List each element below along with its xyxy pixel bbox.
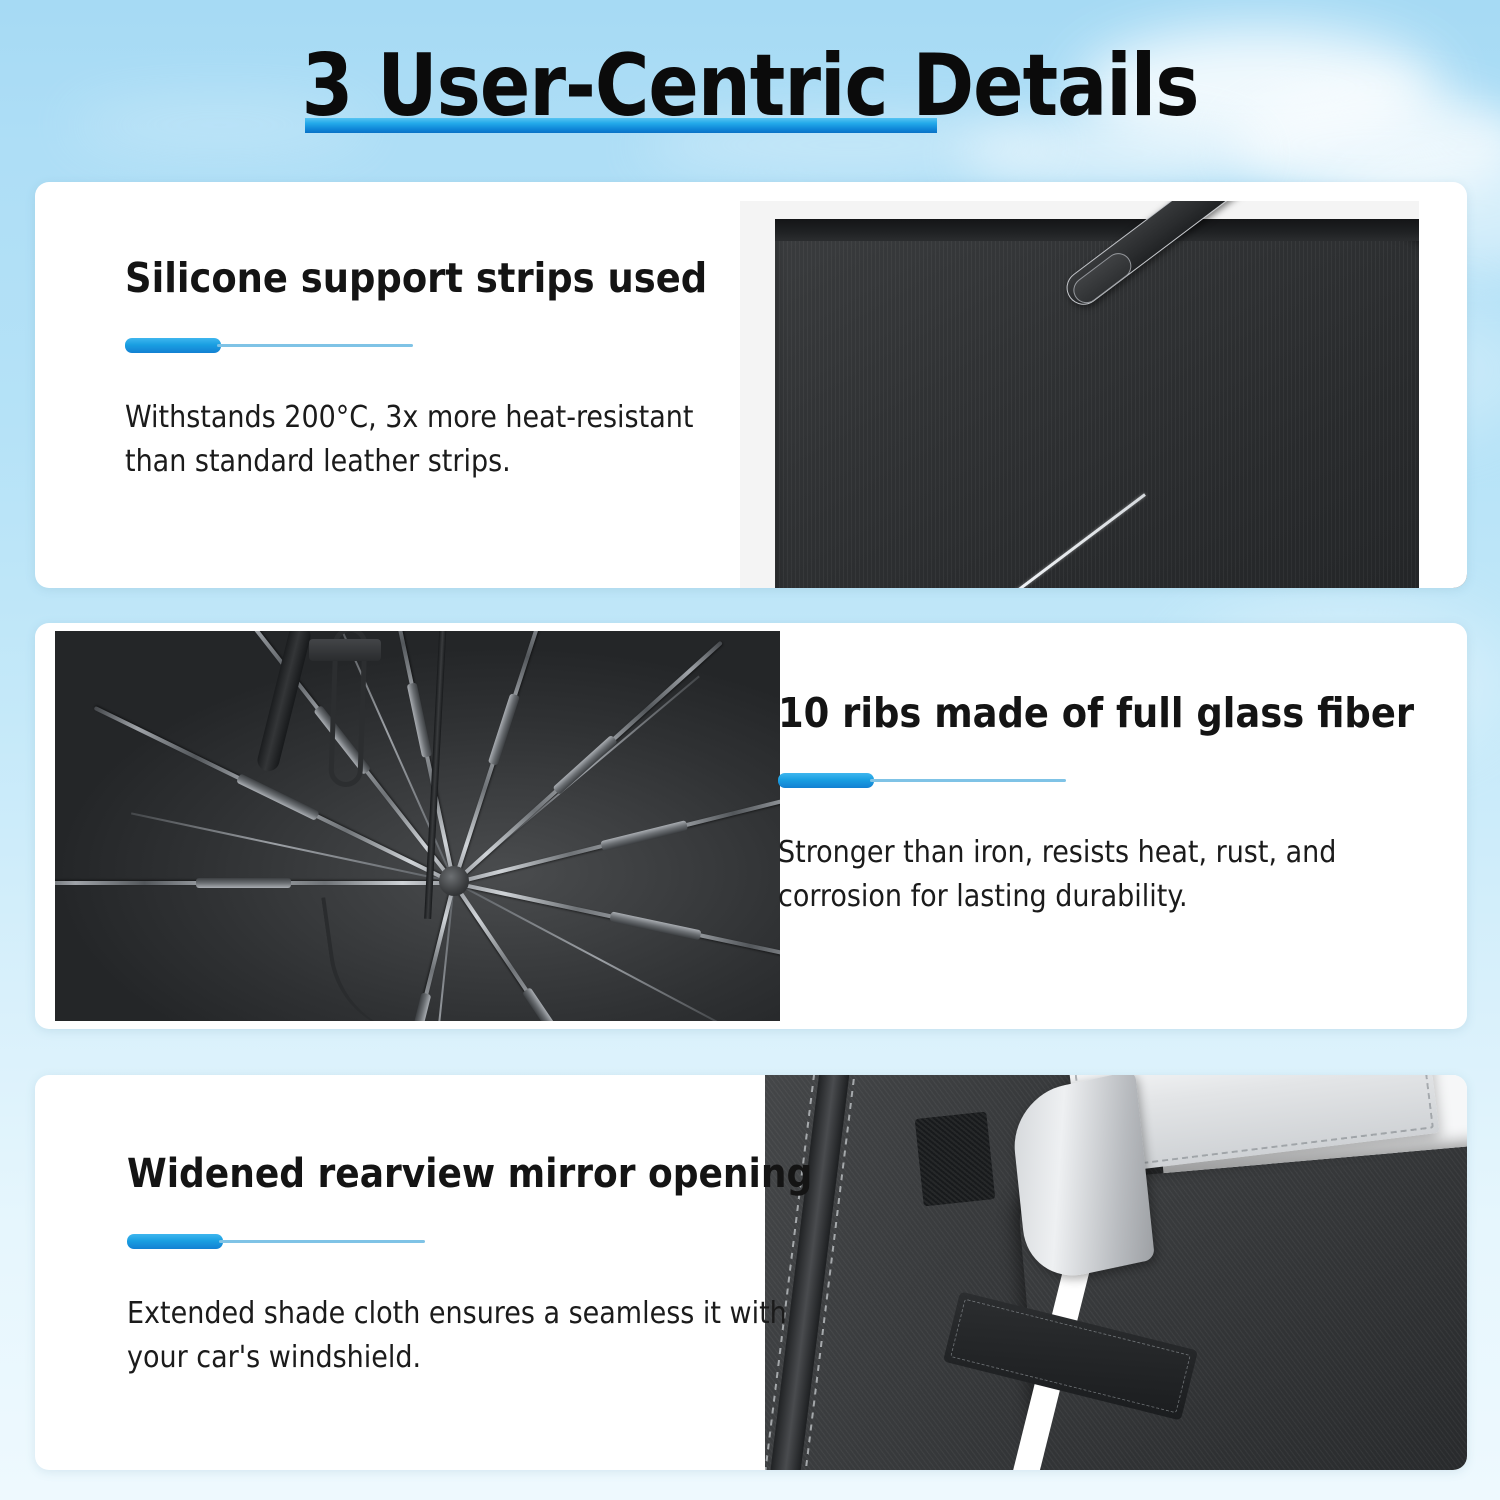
image-right-margin: [1419, 201, 1467, 588]
feature-image-silicone-strip: [740, 201, 1467, 588]
accent-divider: [125, 336, 745, 354]
card-headline: 10 ribs made of full glass fiber: [778, 689, 1458, 737]
feature-image-umbrella-ribs: [55, 631, 780, 1021]
title-underline-bar: [305, 118, 937, 133]
card-headline: Silicone support strips used: [125, 254, 745, 302]
divider-stub: [127, 1234, 223, 1249]
feature-image-mirror-opening: [765, 1075, 1467, 1470]
accent-divider: [127, 1232, 827, 1250]
card-copy: 10 ribs made of full glass fiber Stronge…: [778, 689, 1458, 919]
velcro-patch: [915, 1111, 996, 1206]
card-headline: Widened rearview mirror opening: [127, 1151, 827, 1198]
card-copy: Silicone support strips used Withstands …: [125, 254, 745, 484]
accent-divider: [778, 771, 1458, 789]
divider-stub: [778, 773, 874, 788]
card-body-text: Extended shade cloth ensures a seamless …: [127, 1292, 827, 1380]
umbrella-hub: [439, 866, 469, 896]
umbrella-rib: [55, 881, 454, 885]
umbrella-tab: [309, 639, 381, 661]
feature-card-widened-mirror-opening: Widened rearview mirror opening Extended…: [35, 1075, 1467, 1470]
divider-line: [870, 779, 1066, 782]
divider-line: [219, 1240, 425, 1243]
feature-card-glass-fiber-ribs: 10 ribs made of full glass fiber Stronge…: [35, 623, 1467, 1029]
divider-line: [217, 344, 413, 347]
reflective-strap-fold: [1009, 1075, 1155, 1286]
card-copy: Widened rearview mirror opening Extended…: [127, 1151, 827, 1380]
card-body-text: Stronger than iron, resists heat, rust, …: [778, 831, 1458, 919]
feature-card-silicone-support-strips: Silicone support strips used Withstands …: [35, 182, 1467, 588]
infographic-page: 3 User-Centric Details Silicone support …: [0, 0, 1500, 1500]
card-body-text: Withstands 200°C, 3x more heat-resistant…: [125, 396, 745, 484]
divider-stub: [125, 338, 221, 353]
